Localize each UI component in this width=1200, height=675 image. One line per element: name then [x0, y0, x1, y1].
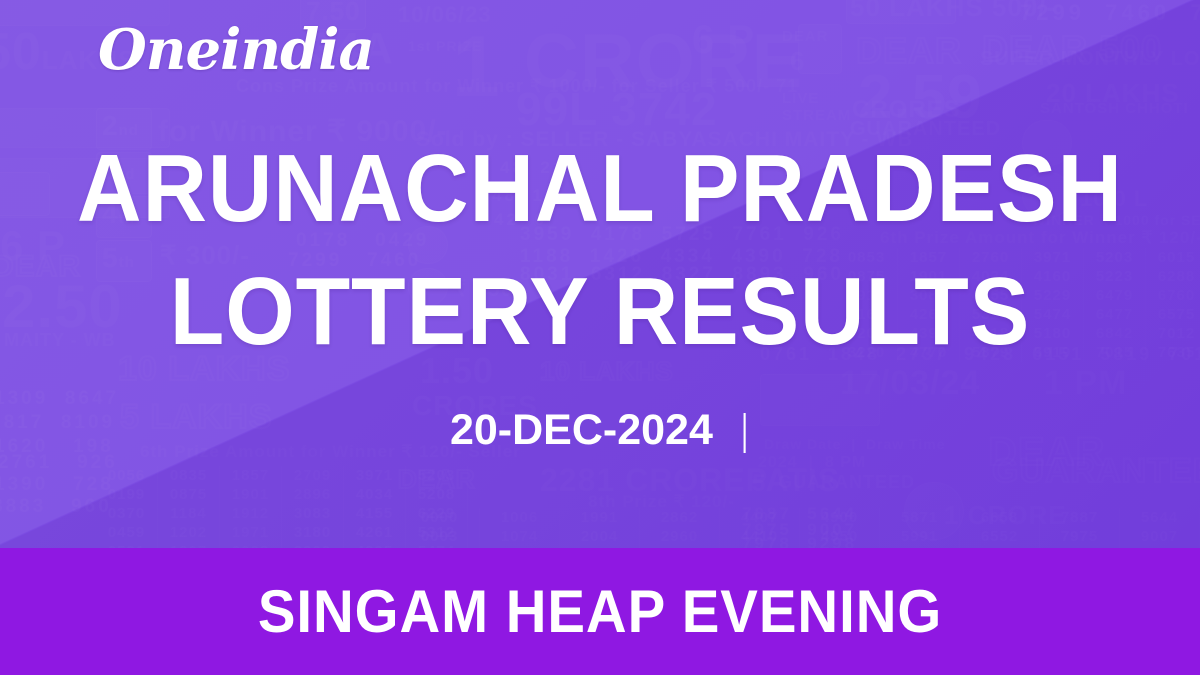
page-title: ARUNACHAL PRADESH LOTTERY RESULTS — [0, 128, 1200, 374]
draw-date-row: 20-DEC-2024| — [0, 406, 1200, 455]
oneindia-logo[interactable]: Oneindia — [98, 22, 374, 78]
draw-name-label: SINGAM HEAP EVENING — [258, 577, 942, 646]
draw-name-bar: SINGAM HEAP EVENING — [0, 548, 1200, 675]
page-title-line1: ARUNACHAL PRADESH — [42, 128, 1158, 251]
draw-date: 20-DEC-2024 — [450, 406, 713, 454]
hero-section: 50LAKHS 6 P DEAR 2.50 MAITY - WB 1309 86… — [0, 0, 1200, 548]
page-title-line2: LOTTERY RESULTS — [42, 251, 1158, 374]
lottery-result-banner: 50LAKHS 6 P DEAR 2.50 MAITY - WB 1309 86… — [0, 0, 1200, 675]
hero-foreground: Oneindia ARUNACHAL PRADESH LOTTERY RESUL… — [0, 0, 1200, 548]
date-separator: | — [741, 406, 748, 455]
